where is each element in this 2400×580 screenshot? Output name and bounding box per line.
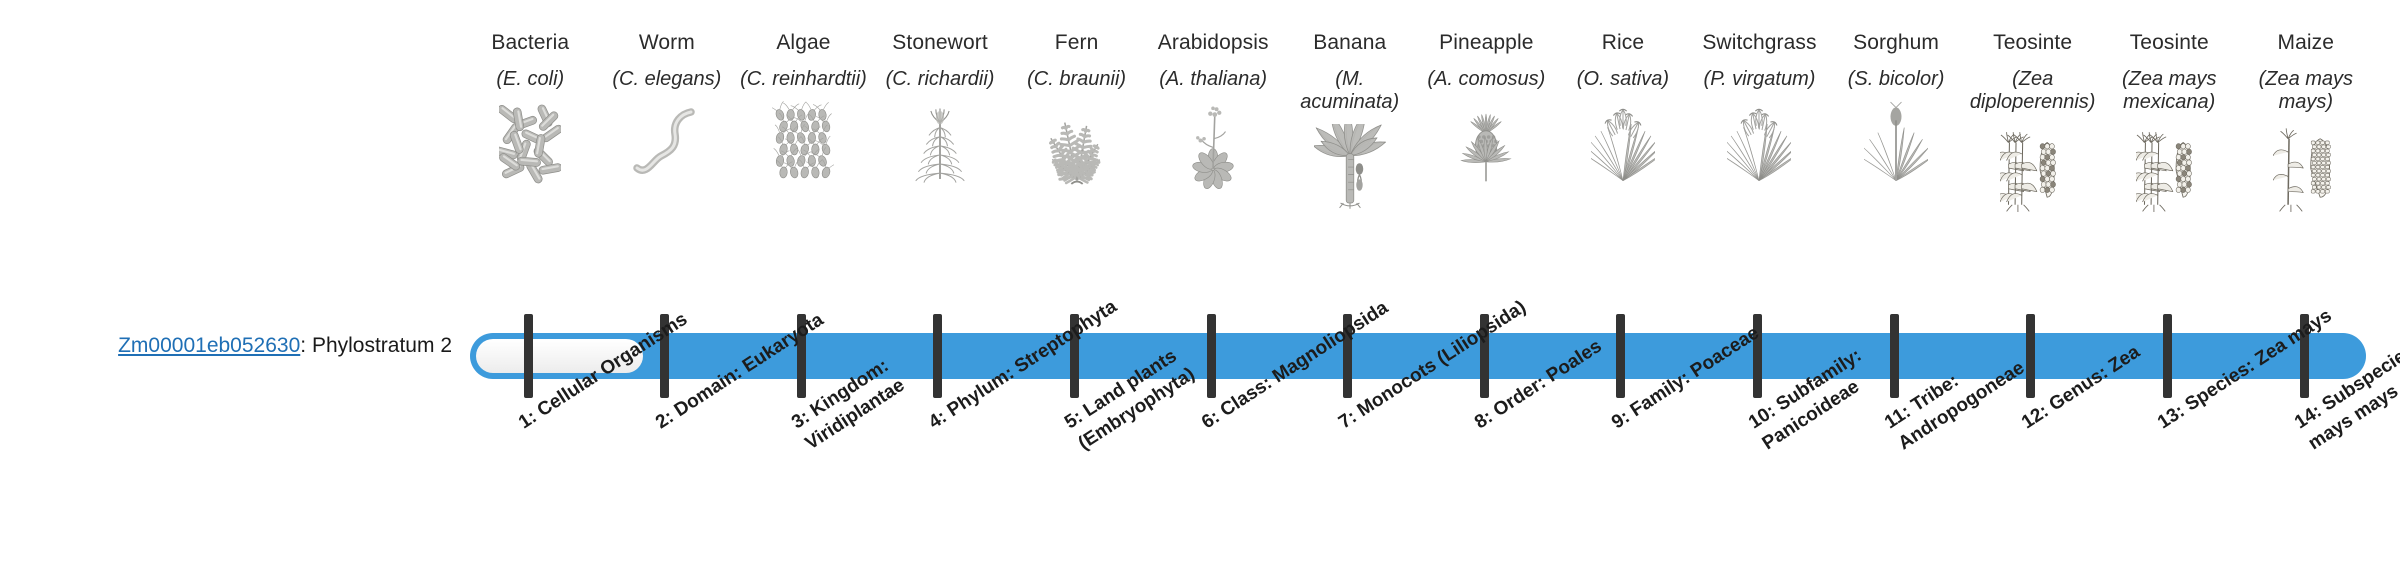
teosinte-diplo-icon [1964,120,2101,212]
species-column: Banana(M. acuminata) [1281,30,1418,230]
species-latin-name: (S. bicolor) [1848,68,1945,91]
species-latin-name: (C. elegans) [612,68,721,91]
species-latin-name: (C. braunii) [1027,68,1126,91]
switchgrass-icon [1691,97,1828,189]
teosinte-mex-icon [2101,120,2238,212]
stage-tick [524,314,533,398]
species-common-name: Pineapple [1439,30,1533,56]
species-latin-name: (A. thaliana) [1159,68,1267,91]
gene-row-label: Zm00001eb052630: Phylostratum 2 [0,333,452,359]
species-common-name: Bacteria [491,30,569,56]
rank-number: 7: [1335,406,1361,433]
rank-number: 6: [1198,406,1224,433]
fern-icon [1008,97,1145,189]
species-common-name: Maize [2278,30,2335,56]
species-common-name: Rice [1602,30,1644,56]
species-column: Teosinte(Zea diploperennis) [1964,30,2101,230]
species-column: Rice(O. sativa) [1555,30,1692,230]
species-latin-name: (C. richardii) [886,68,995,91]
rank-number: 2: [652,406,678,433]
species-common-name: Sorghum [1853,30,1939,56]
algae-icon [735,97,872,189]
row-label-separator: : [300,334,312,357]
arabidopsis-icon [1145,97,1282,189]
species-common-name: Fern [1055,30,1099,56]
species-latin-name: (A. comosus) [1427,68,1545,91]
species-common-name: Stonewort [892,30,987,56]
stonewort-icon [872,97,1009,189]
species-column: Fern(C. braunii) [1008,30,1145,230]
species-latin-name: (C. reinhardtii) [740,68,867,91]
species-common-name: Worm [639,30,695,56]
species-column: Stonewort(C. richardii) [872,30,1009,230]
species-column: Switchgrass(P. virgatum) [1691,30,1828,230]
species-common-name: Switchgrass [1702,30,1816,56]
species-latin-name: (M. acuminata) [1286,68,1414,114]
species-header-row: Bacteria(E. coli) [462,30,2374,230]
banana-icon [1281,120,1418,212]
worm-icon [599,97,736,189]
species-common-name: Teosinte [2130,30,2209,56]
species-latin-name: (Zea mays mays) [2242,68,2370,114]
pineapple-icon [1418,97,1555,189]
species-latin-name: (O. sativa) [1577,68,1669,91]
rank-number: 4: [925,406,951,433]
species-column: Teosinte(Zea mays mexicana) [2101,30,2238,230]
species-common-name: Teosinte [1993,30,2072,56]
sorghum-icon [1828,97,1965,189]
species-column: Maize(Zea mays mays) [2238,30,2375,230]
species-latin-name: (Zea mays mexicana) [2105,68,2233,114]
gene-id-link[interactable]: Zm00001eb052630 [118,334,300,357]
species-column: Sorghum(S. bicolor) [1828,30,1965,230]
species-column: Arabidopsis(A. thaliana) [1145,30,1282,230]
rice-icon [1555,97,1692,189]
species-column: Worm(C. elegans) [599,30,736,230]
species-common-name: Algae [776,30,830,56]
taxonomic-rank-labels: 1: Cellular Organisms2: Domain: Eukaryot… [470,414,2366,580]
species-column: Bacteria(E. coli) [462,30,599,230]
species-column: Pineapple(A. comosus) [1418,30,1555,230]
species-common-name: Banana [1313,30,1386,56]
species-column: Algae(C. reinhardtii) [735,30,872,230]
species-latin-name: (P. virgatum) [1704,68,1816,91]
phylostratum-figure: Bacteria(E. coli) [0,0,2400,580]
species-latin-name: (Zea diploperennis) [1969,68,2097,114]
species-common-name: Arabidopsis [1158,30,1269,56]
phylostratum-text: Phylostratum 2 [312,334,452,357]
maize-icon [2238,120,2375,212]
species-latin-name: (E. coli) [496,68,564,91]
bacteria-icon [462,97,599,189]
rank-number: 9: [1608,406,1634,433]
rank-number: 1: [515,406,541,433]
